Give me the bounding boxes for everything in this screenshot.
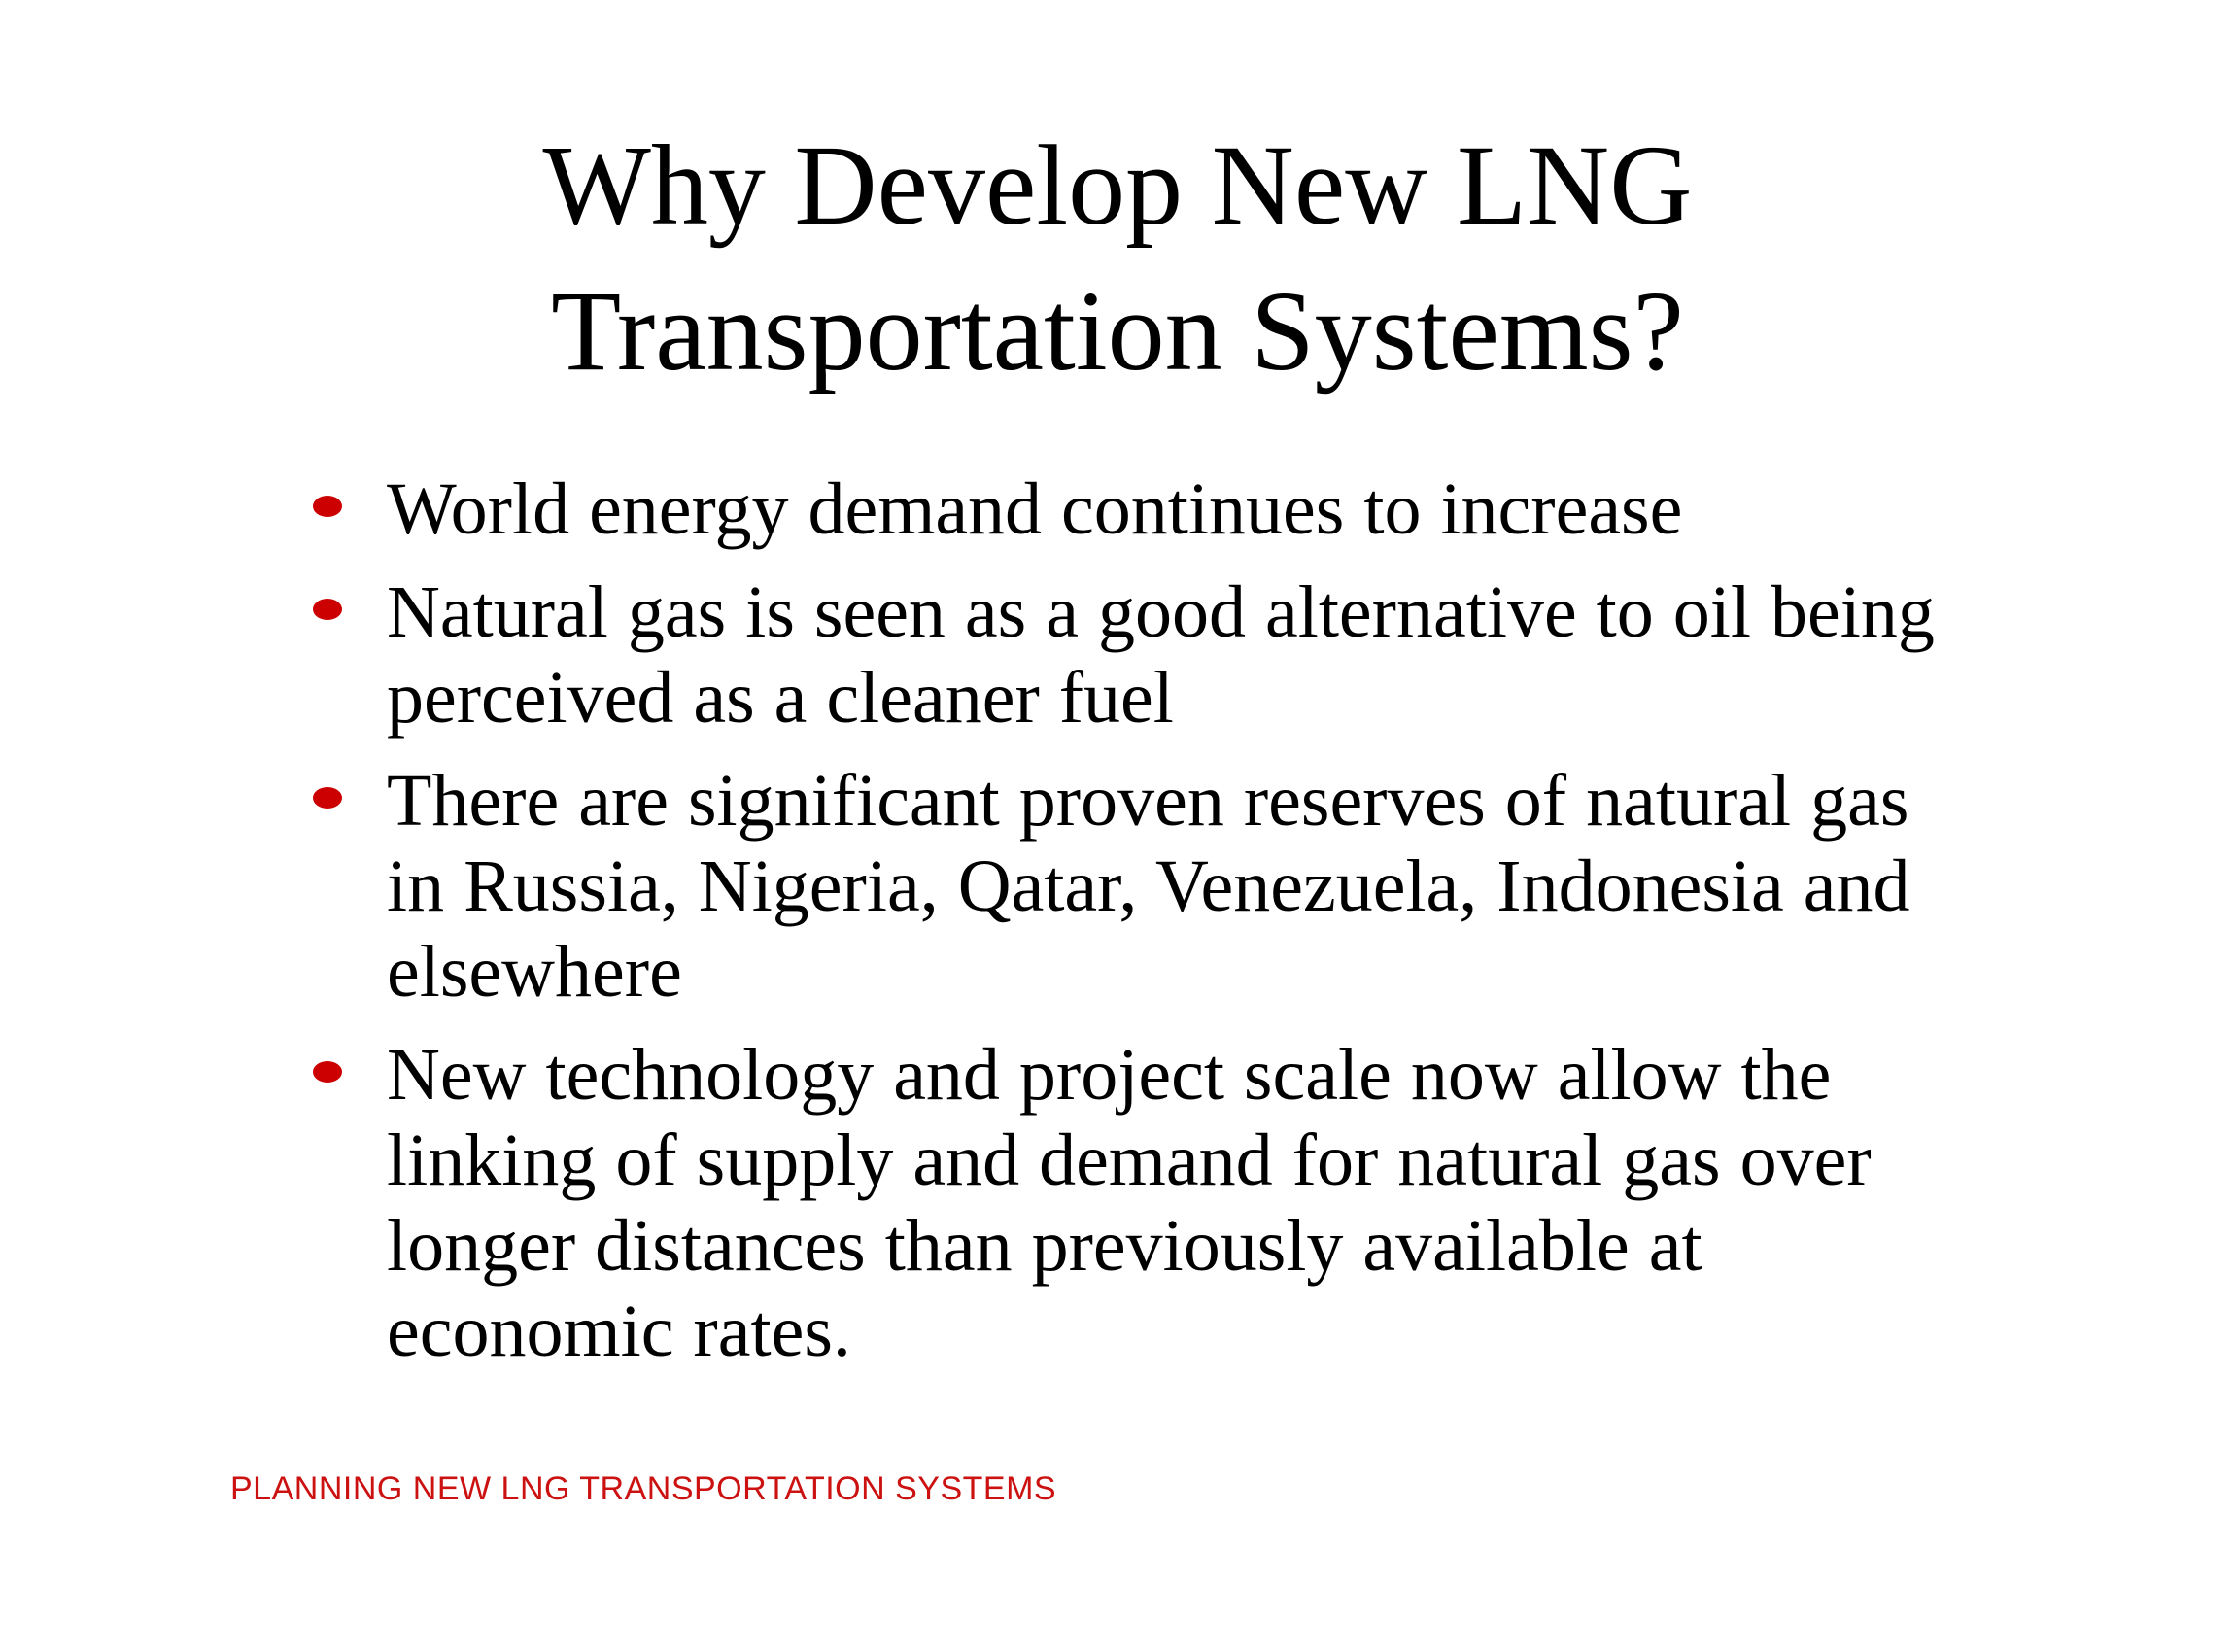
- list-item-text: New technology and project scale now all…: [387, 1032, 1963, 1374]
- slide-title: Why Develop New LNG Transportation Syste…: [292, 128, 1943, 389]
- bullet-dot-icon: [313, 599, 342, 620]
- list-item-text: World energy demand continues to increas…: [387, 466, 1963, 552]
- presentation-slide: Why Develop New LNG Transportation Syste…: [0, 0, 2235, 1652]
- list-item-text: Natural gas is seen as a good alternativ…: [387, 569, 1963, 740]
- list-item-text: There are significant proven reserves of…: [387, 758, 1963, 1015]
- list-item: New technology and project scale now all…: [292, 1032, 1963, 1374]
- list-item: Natural gas is seen as a good alternativ…: [292, 569, 1963, 740]
- title-line-1: Why Develop New LNG: [292, 128, 1943, 243]
- bullet-list: World energy demand continues to increas…: [292, 466, 1963, 1374]
- title-line-2: Transportation Systems?: [292, 274, 1943, 389]
- list-item: There are significant proven reserves of…: [292, 758, 1963, 1015]
- list-item: World energy demand continues to increas…: [292, 466, 1963, 552]
- bullet-dot-icon: [313, 496, 342, 517]
- bullet-dot-icon: [313, 1061, 342, 1083]
- slide-footer: PLANNING NEW LNG TRANSPORTATION SYSTEMS: [230, 1469, 1056, 1508]
- bullet-dot-icon: [313, 787, 342, 809]
